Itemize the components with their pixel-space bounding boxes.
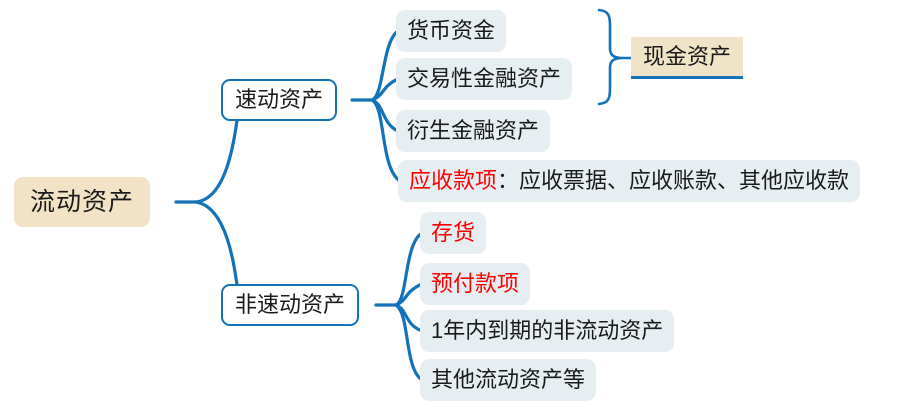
leaf-node-label: 存货 [431, 222, 475, 244]
leaf-node-trading-financial-assets[interactable]: 交易性金融资产 [396, 58, 572, 100]
link-quick-to-trading [372, 79, 398, 100]
branch-node-non-quick-assets[interactable]: 非速动资产 [221, 284, 359, 326]
leaf-node-prepayments[interactable]: 预付款项 [420, 263, 530, 305]
link-nonquick-to-inventory [396, 233, 422, 305]
leaf-node-label: 预付款项 [431, 273, 519, 295]
branch-node-label: 速动资产 [235, 89, 323, 111]
leaf-node-label: 1年内到期的非流动资产 [431, 320, 663, 342]
leaf-node-receivables[interactable]: 应收款项：应收票据、应收账款、其他应收款 [398, 160, 860, 202]
leaf-node-inventory[interactable]: 存货 [420, 212, 486, 254]
link-nonquick-to-prepayments [396, 284, 422, 305]
callout-node-label: 现金资产 [643, 46, 731, 68]
leaf-node-label: 交易性金融资产 [407, 68, 561, 90]
leaf-node-label: 其他流动资产等 [431, 369, 585, 391]
root-node-label: 流动资产 [30, 190, 134, 215]
leaf-node-label-detail: ：应收票据、应收账款、其他应收款 [497, 170, 849, 192]
callout-node-cash-assets[interactable]: 现金资产 [631, 37, 743, 79]
link-nonquick-to-othercurrent [396, 305, 422, 380]
link-nonquick-to-due1y [396, 305, 422, 331]
leaf-node-cash[interactable]: 货币资金 [396, 10, 506, 52]
leaf-node-other-current-assets[interactable]: 其他流动资产等 [420, 359, 596, 401]
curly-brace-icon [599, 10, 631, 104]
mindmap-canvas: 流动资产 速动资产 货币资金 交易性金融资产 衍生金融资产 应收款项：应收票据、… [0, 0, 920, 411]
link-quick-to-cash [372, 31, 398, 100]
leaf-node-label-highlight: 应收款项 [409, 170, 497, 192]
link-quick-to-derivative [372, 100, 398, 131]
branch-node-label: 非速动资产 [235, 294, 345, 316]
leaf-node-label: 衍生金融资产 [407, 120, 539, 142]
leaf-node-label: 货币资金 [407, 20, 495, 42]
branch-node-quick-assets[interactable]: 速动资产 [221, 79, 337, 121]
root-node-current-assets[interactable]: 流动资产 [14, 177, 150, 227]
leaf-node-due-within-one-year[interactable]: 1年内到期的非流动资产 [420, 310, 674, 352]
leaf-node-derivative-financial-assets[interactable]: 衍生金融资产 [396, 110, 550, 152]
